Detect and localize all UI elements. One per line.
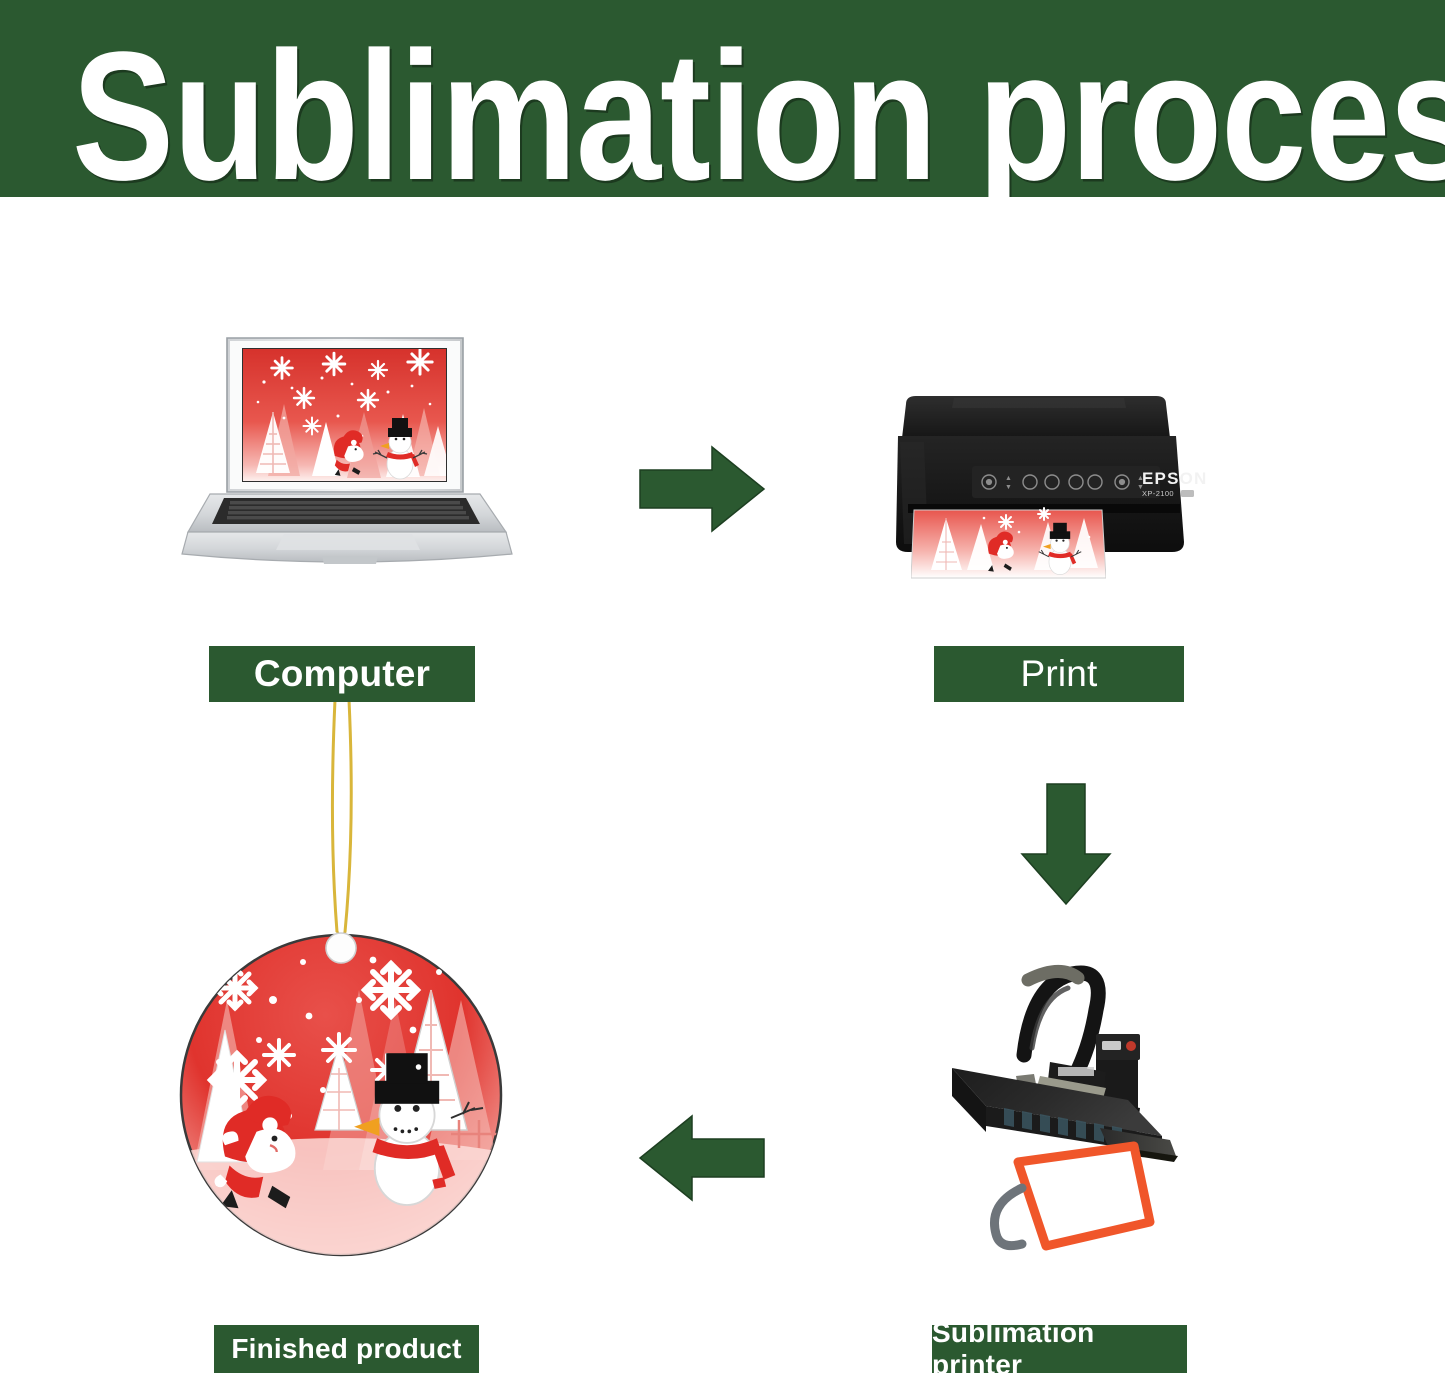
label-print: Print — [934, 646, 1184, 702]
label-sublimation-printer: Sublimation printer — [932, 1325, 1187, 1373]
laptop-illustration — [172, 326, 520, 578]
printer-illustration: ▲ ▼ ▲ ▼ EPSON XP-2100 — [884, 392, 1214, 588]
arrow-right-icon — [638, 443, 766, 535]
printer-model-label: XP-2100 — [1142, 489, 1174, 498]
header-banner: Sublimation process — [0, 0, 1445, 197]
label-finished-product: Finished product — [214, 1325, 479, 1373]
label-computer: Computer — [209, 646, 475, 702]
printer-brand-label: EPSON — [1142, 469, 1208, 488]
heat-press-illustration — [900, 950, 1234, 1280]
page-title: Sublimation process — [72, 18, 1439, 197]
ornament-string — [332, 700, 351, 932]
svg-text:▼: ▼ — [1005, 484, 1012, 491]
ornament-illustration — [163, 700, 523, 1265]
wifi-icon — [1181, 490, 1194, 497]
arrow-down-icon — [1018, 782, 1114, 906]
svg-text:▲: ▲ — [1005, 475, 1012, 482]
arrow-left-icon — [638, 1112, 766, 1204]
